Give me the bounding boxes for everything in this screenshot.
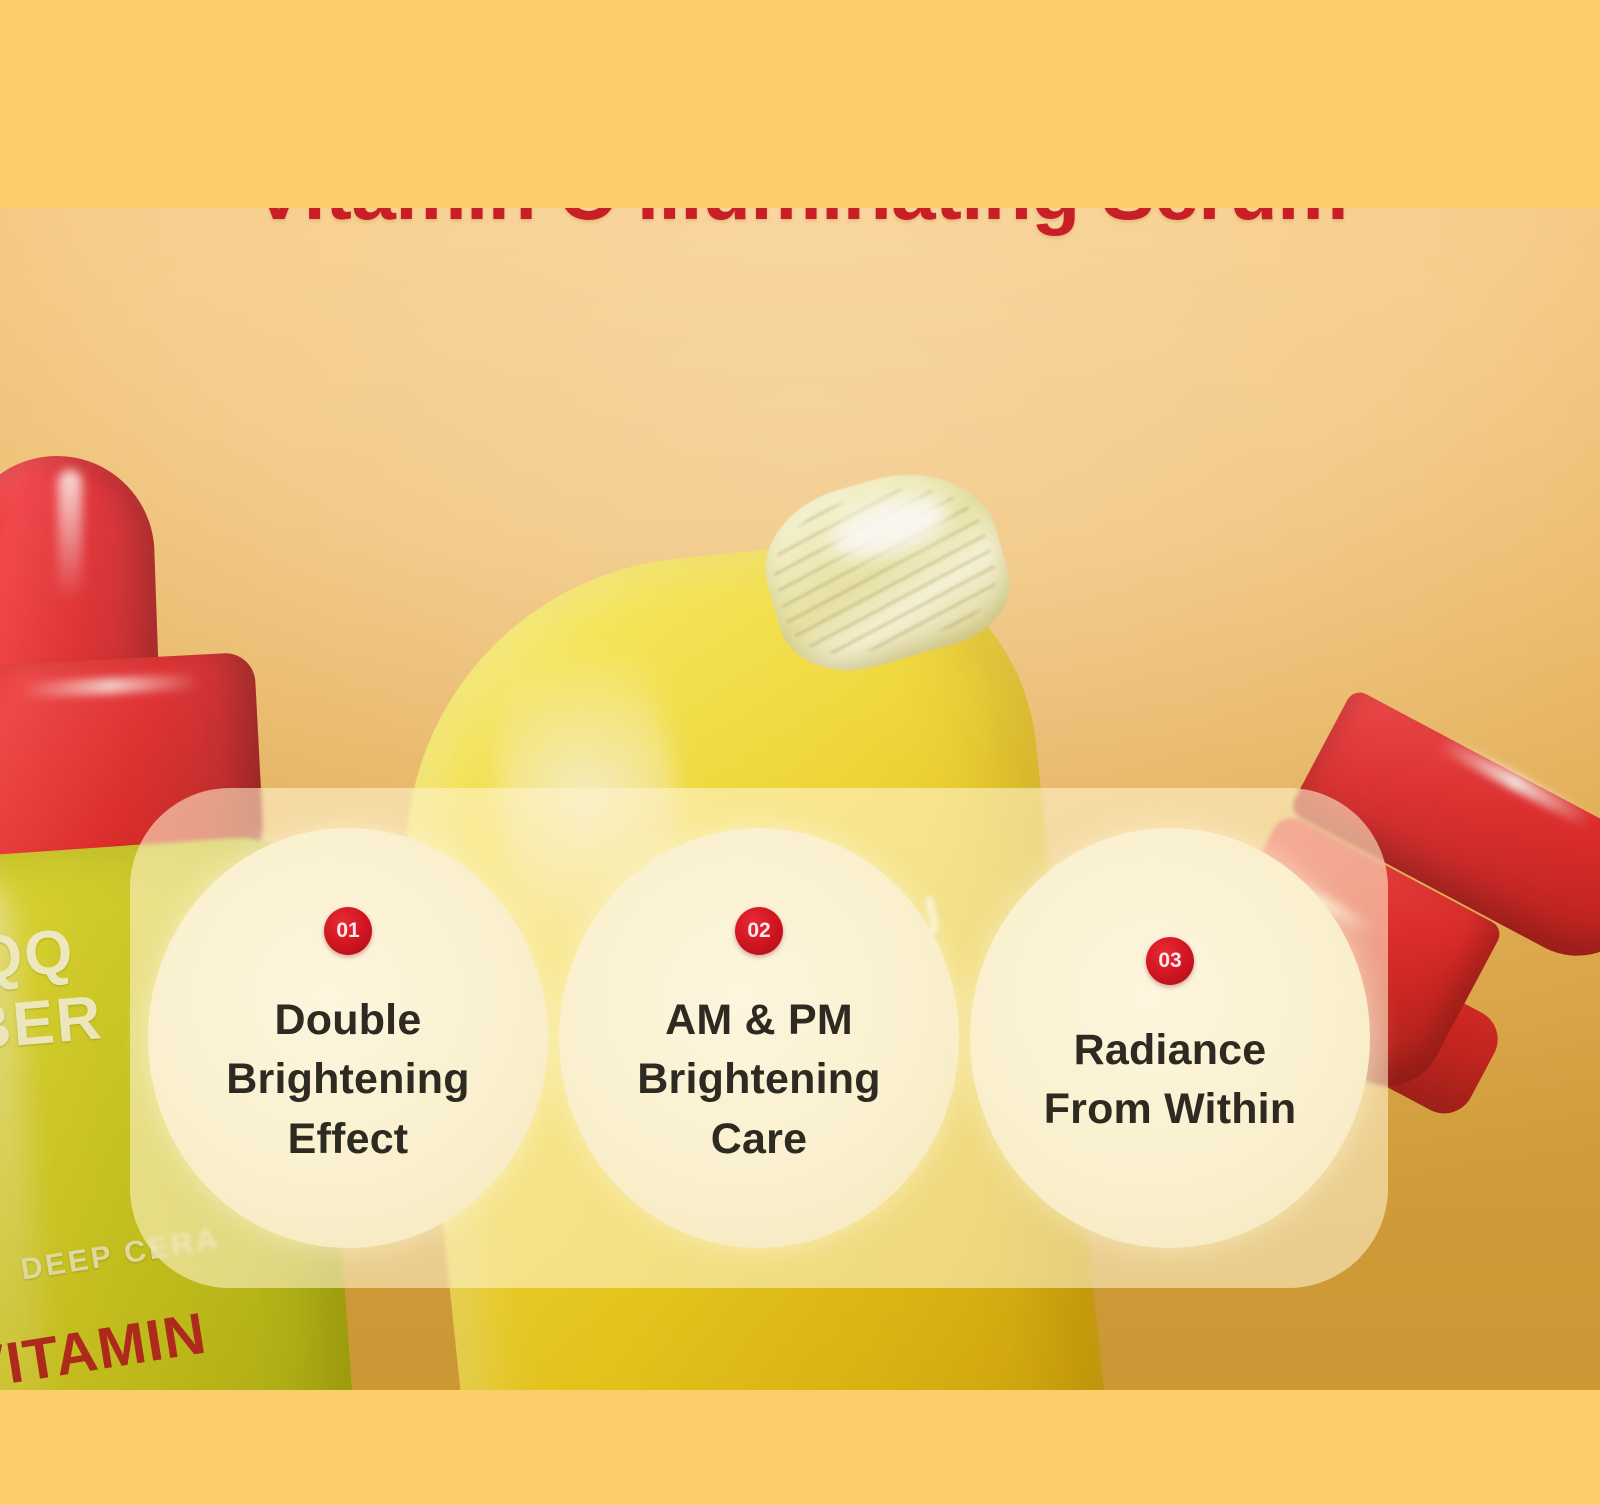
top-color-band [0,0,1600,208]
benefit-item-01[interactable]: 01 Double Brightening Effect [148,828,548,1248]
benefit-label-01-line1: Double [226,991,469,1050]
benefit-label-02-line3: Care [637,1110,880,1169]
benefit-item-02[interactable]: 02 AM & PM Brightening Care [559,828,959,1248]
benefit-label-02-line1: AM & PM [637,991,880,1050]
left-bottle-brand-line1: QQ [0,916,77,995]
benefit-label-03-line1: Radiance [1044,1021,1297,1080]
benefit-number-badge-03: 03 [1146,937,1194,985]
left-dropper-cap-gloss [58,470,82,600]
benefit-label-03: Radiance From Within [1044,1021,1297,1140]
benefit-label-02: AM & PM Brightening Care [637,991,880,1169]
benefit-label-03-line2: From Within [1044,1080,1297,1139]
benefit-label-01-line2: Brightening [226,1050,469,1109]
benefit-label-02-line2: Brightening [637,1050,880,1109]
benefit-label-01-line3: Effect [226,1110,469,1169]
benefit-number-badge-01: 01 [324,907,372,955]
benefit-circle-list: 01 Double Brightening Effect 02 AM & PM … [130,788,1388,1288]
benefit-item-03[interactable]: 03 Radiance From Within [970,828,1370,1248]
left-bottle-brand-line2: BER [0,982,106,1065]
benefit-label-01: Double Brightening Effect [226,991,469,1169]
benefit-number-badge-02: 02 [735,907,783,955]
promo-banner: QQ BER DEEP CERA VITAMIN EQQU B FL. OZ. … [0,0,1600,1505]
benefits-card: 01 Double Brightening Effect 02 AM & PM … [130,788,1388,1288]
bottom-color-band [0,1390,1600,1505]
